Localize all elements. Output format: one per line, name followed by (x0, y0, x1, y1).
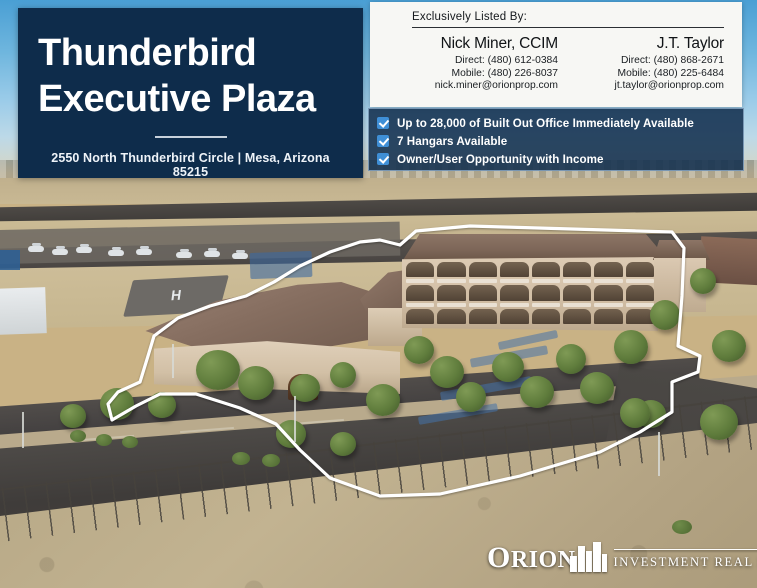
shrub (262, 454, 280, 467)
parked-aircraft (76, 247, 92, 253)
parked-aircraft (28, 246, 44, 252)
tile-roof (392, 234, 668, 260)
shrub (70, 430, 86, 442)
tree (492, 352, 524, 382)
shrub (96, 434, 112, 446)
tree (690, 268, 716, 294)
broker-direct-phone: Direct: (480) 612-0384 (412, 55, 558, 68)
tree (330, 432, 356, 456)
broker-email[interactable]: nick.miner@orionprop.com (412, 80, 558, 93)
broker-mobile-phone: Mobile: (480) 225-6484 (578, 68, 724, 81)
three-story-office-building (392, 234, 668, 330)
parked-aircraft (204, 251, 220, 257)
shrub (672, 520, 692, 534)
exclusively-listed-heading: Exclusively Listed By: (412, 11, 724, 27)
highlight-label: Owner/User Opportunity with Income (397, 153, 604, 166)
broker-name: J.T. Taylor (578, 35, 724, 53)
check-icon (377, 117, 389, 129)
orion-tagline-group: INVESTMENT REAL ESTATE (614, 549, 757, 573)
shrub (122, 436, 138, 448)
tree (148, 392, 176, 418)
tree (712, 330, 746, 362)
tree (196, 350, 240, 390)
blue-roof-panel (250, 251, 313, 279)
tree (330, 362, 356, 388)
broker-list: Nick Miner, CCIM Direct: (480) 612-0384 … (412, 35, 724, 93)
logo-rule (614, 549, 757, 551)
title-divider (155, 136, 227, 138)
page-title-line-2: Executive Plaza (38, 76, 343, 122)
neighboring-building-left (0, 287, 47, 335)
heading-divider (412, 27, 724, 28)
property-address: 2550 North Thunderbird Circle | Mesa, Ar… (38, 151, 343, 179)
highlight-item: Owner/User Opportunity with Income (377, 150, 735, 168)
tree (556, 344, 586, 374)
broker-mobile-phone: Mobile: (480) 226-8037 (412, 68, 558, 81)
tile-roof (648, 240, 710, 260)
broker-card: J.T. Taylor Direct: (480) 868-2671 Mobil… (578, 35, 724, 93)
parked-aircraft (176, 252, 192, 258)
page-title-line-1: Thunderbird (38, 30, 343, 76)
property-highlights-panel: Up to 28,000 of Built Out Office Immedia… (368, 108, 744, 171)
parked-aircraft (52, 249, 68, 255)
broker-direct-phone: Direct: (480) 868-2671 (578, 55, 724, 68)
tree (60, 404, 86, 428)
tree (430, 356, 464, 388)
building-skyline-icon (568, 538, 608, 572)
tree (404, 336, 434, 364)
light-pole (22, 412, 24, 448)
parked-aircraft (232, 253, 248, 259)
tree (650, 300, 680, 330)
check-icon (377, 153, 389, 165)
tree (520, 376, 554, 408)
parked-aircraft (136, 249, 152, 255)
arched-balcony-bays (406, 262, 654, 324)
tree (700, 404, 738, 440)
marketing-flyer-page: Thunderbird Executive Plaza 2550 North T… (0, 0, 757, 588)
blue-hangar-roof (0, 250, 20, 270)
parking-stripe (498, 330, 558, 350)
light-pole (294, 396, 296, 442)
broker-email[interactable]: jt.taylor@orionprop.com (578, 80, 724, 93)
shrub (232, 452, 250, 465)
highlight-item: Up to 28,000 of Built Out Office Immedia… (377, 114, 735, 132)
highlight-label: 7 Hangars Available (397, 135, 507, 148)
highlight-item: 7 Hangars Available (377, 132, 735, 150)
light-pole (172, 344, 174, 378)
tree (276, 420, 306, 448)
contact-panel: Exclusively Listed By: Nick Miner, CCIM … (370, 2, 742, 107)
check-icon (377, 135, 389, 147)
broker-name: Nick Miner, CCIM (412, 35, 558, 53)
tree (614, 330, 648, 364)
light-pole (658, 432, 660, 476)
orion-tagline: INVESTMENT REAL ESTATE (614, 555, 757, 569)
orion-wordmark: ORION (487, 546, 576, 572)
orion-logo: ORION INVESTMENT REAL ESTATE (487, 536, 745, 572)
broker-card: Nick Miner, CCIM Direct: (480) 612-0384 … (412, 35, 578, 93)
tree (366, 384, 400, 416)
tree (100, 388, 134, 420)
highlight-label: Up to 28,000 of Built Out Office Immedia… (397, 117, 694, 130)
tree (580, 372, 614, 404)
tree (238, 366, 274, 400)
parked-aircraft (108, 250, 124, 256)
tree (456, 382, 486, 412)
tree (620, 398, 650, 428)
title-block: Thunderbird Executive Plaza 2550 North T… (18, 8, 363, 178)
